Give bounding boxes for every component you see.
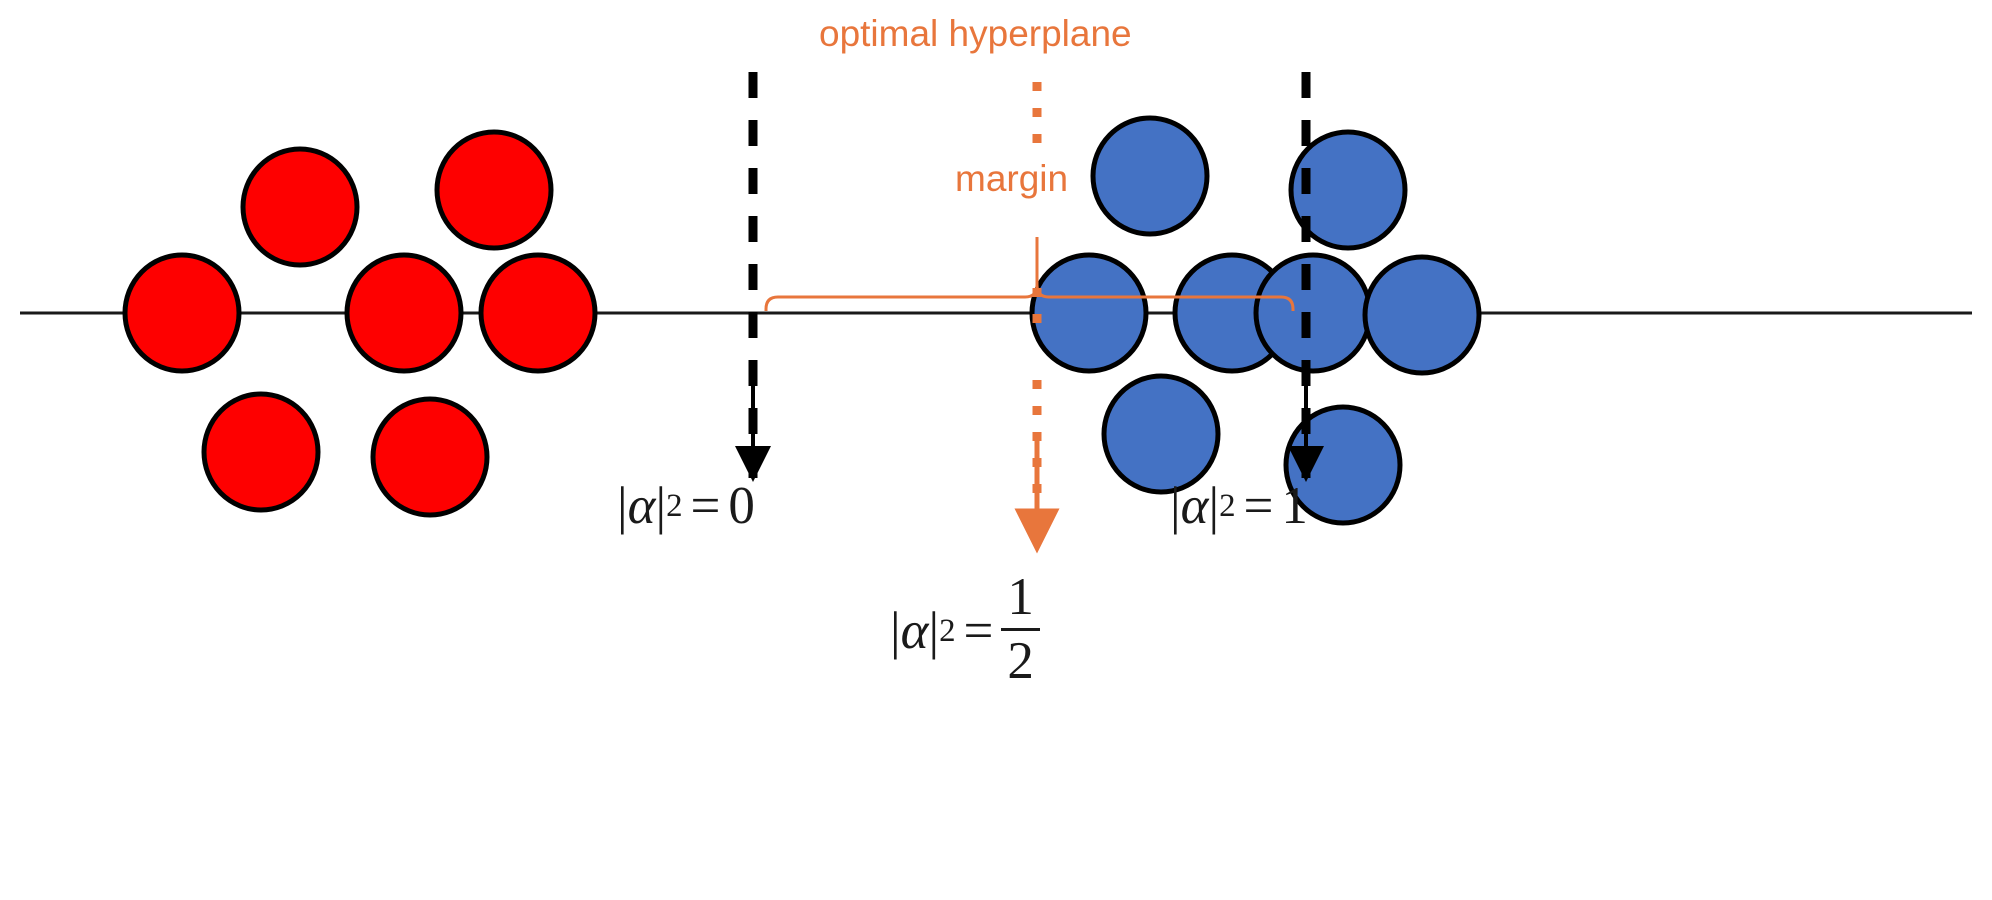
exponent: 2: [939, 615, 955, 648]
class-a-datapoint: [243, 149, 357, 265]
figure-canvas: optimal hyperplane margin |α|2 = 0 |α|2 …: [0, 0, 1992, 900]
class-a-datapoint: [481, 255, 595, 371]
abs-bar-open: |: [890, 605, 901, 658]
class-a-datapoint: [437, 132, 551, 248]
class-a-datapoint: [373, 399, 487, 515]
diagram-svg: [0, 0, 1992, 900]
alpha-symbol: α: [901, 605, 929, 658]
class-b-datapoint: [1256, 255, 1370, 371]
class-a-datapoint: [125, 255, 239, 371]
fraction-numerator: 1: [1001, 570, 1040, 628]
center-hyperplane-math-label: |α|2 = 1 2: [890, 572, 1040, 691]
value: 0: [728, 480, 755, 533]
abs-bar-close: |: [928, 605, 939, 658]
class-a-datapoint: [347, 255, 461, 371]
class-b-datapoint: [1032, 255, 1146, 371]
class-b-datapoint: [1365, 257, 1479, 373]
optimal-hyperplane-label: optimal hyperplane: [819, 15, 1132, 52]
abs-bar-close: |: [655, 480, 666, 533]
equals-sign: =: [956, 605, 1002, 658]
alpha-symbol: α: [1181, 480, 1209, 533]
left-boundary-math-label: |α|2 = 0: [617, 480, 755, 533]
class-b-datapoint-group: [1032, 118, 1479, 523]
fraction-one-half: 1 2: [1001, 570, 1040, 689]
class-a-datapoint: [204, 394, 318, 510]
equals-sign: =: [1236, 480, 1282, 533]
value: 1: [1281, 480, 1308, 533]
margin-label: margin: [955, 160, 1068, 197]
abs-bar-open: |: [1170, 480, 1181, 533]
alpha-symbol: α: [628, 480, 656, 533]
class-b-datapoint: [1104, 376, 1218, 492]
class-b-datapoint: [1093, 118, 1207, 234]
fraction-denominator: 2: [1001, 628, 1040, 690]
class-a-datapoint-group: [125, 132, 595, 515]
right-boundary-math-label: |α|2 = 1: [1170, 480, 1308, 533]
abs-bar-open: |: [617, 480, 628, 533]
exponent: 2: [1219, 490, 1235, 523]
exponent: 2: [666, 490, 682, 523]
equals-sign: =: [683, 480, 729, 533]
abs-bar-close: |: [1208, 480, 1219, 533]
